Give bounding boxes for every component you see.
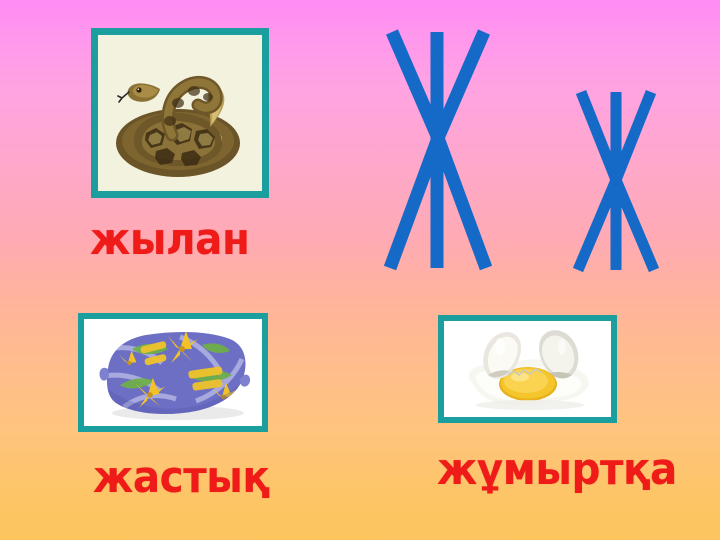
egg-photo [444, 321, 611, 417]
letter-pair-display [380, 20, 700, 280]
slide-canvas: жылан [0, 0, 720, 540]
snake-photo [98, 35, 262, 191]
snake-picture-frame [91, 28, 269, 198]
letter-zhe-svg [380, 20, 700, 280]
snake-caption: жылан [90, 214, 250, 265]
letter-zhe-uppercase [390, 32, 486, 268]
letter-zhe-lowercase [578, 92, 654, 270]
snake-illustration [98, 35, 262, 191]
pillow-picture-frame [78, 313, 268, 432]
pillow-caption: жастық [93, 452, 269, 503]
egg-picture-frame [438, 315, 617, 423]
pillow-illustration [84, 319, 262, 426]
egg-caption: жұмыртқа [437, 444, 677, 495]
egg-illustration [444, 321, 611, 417]
pillow-photo [84, 319, 262, 426]
